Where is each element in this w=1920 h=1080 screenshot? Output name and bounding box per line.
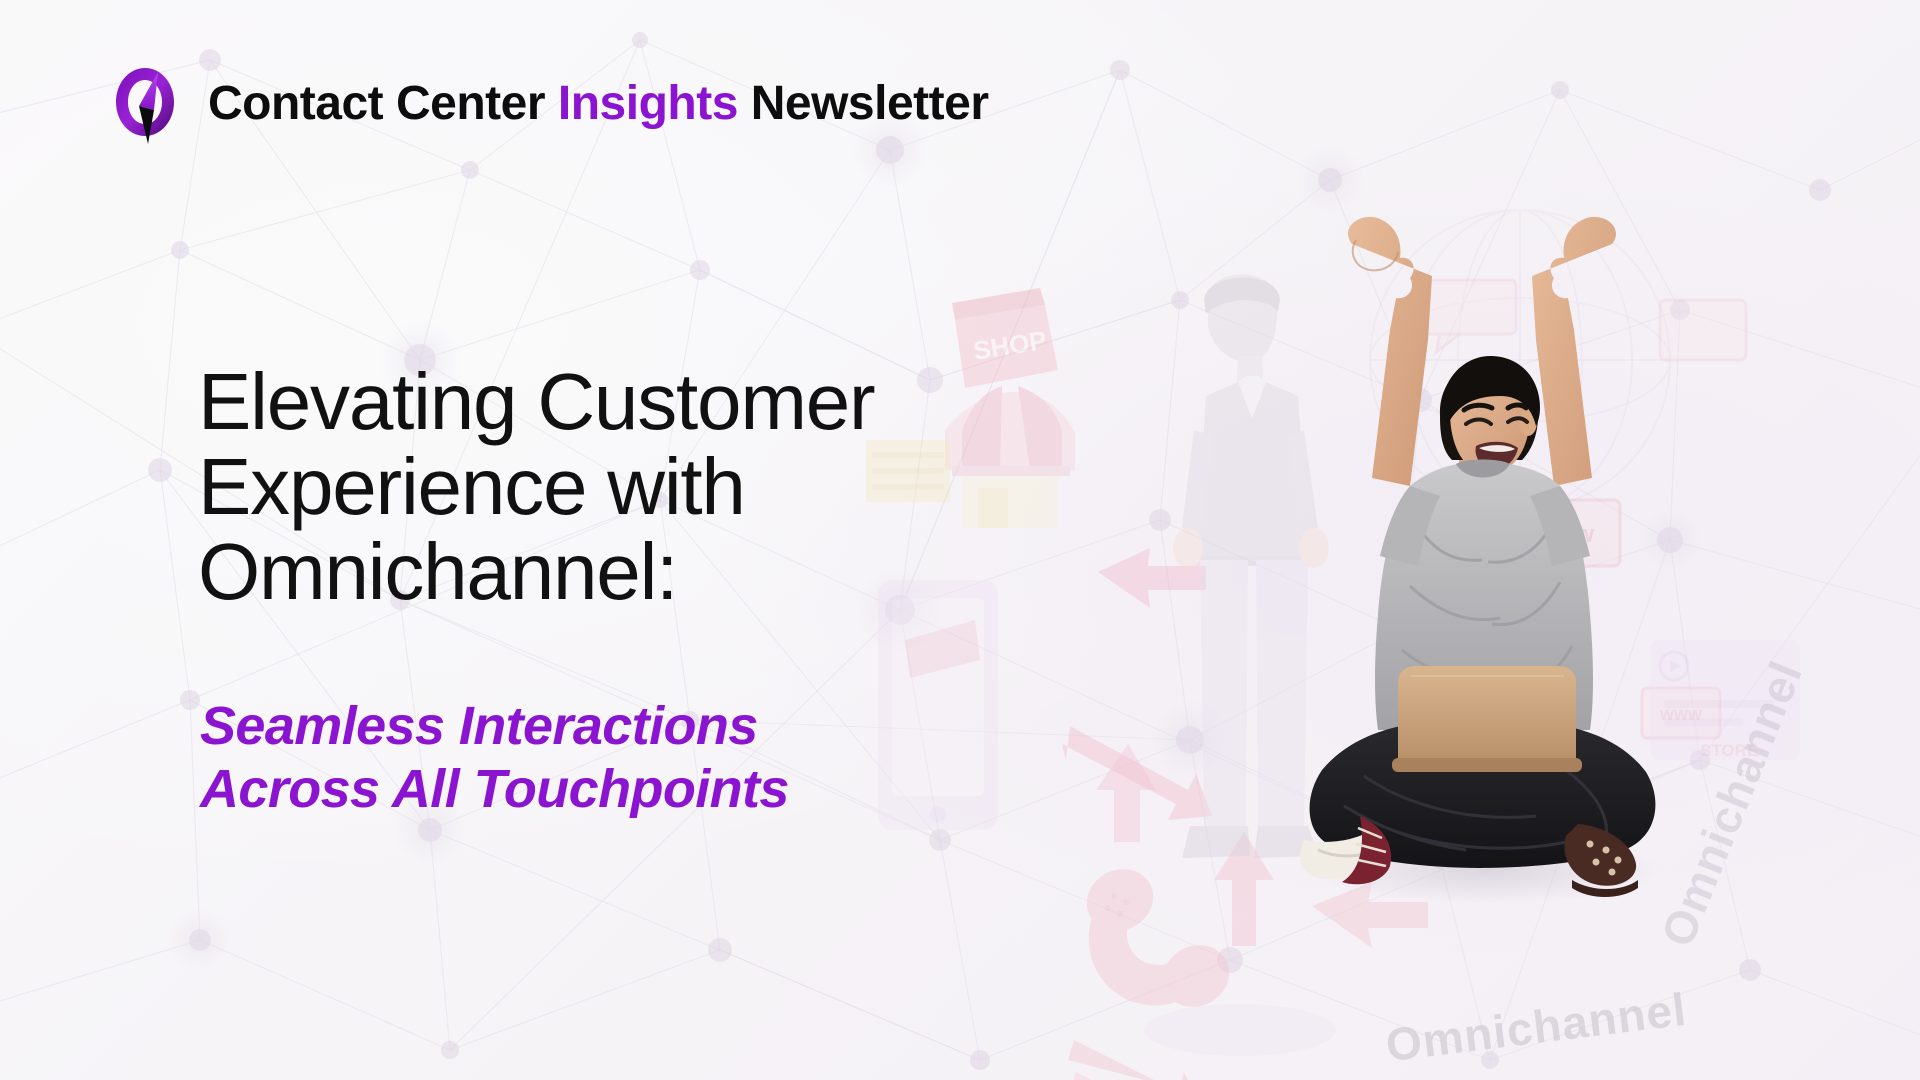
headline-line-1: Elevating Customer [198, 360, 1078, 445]
headline-line-2: Experience with [198, 445, 1078, 530]
headline-line-3: Omnichannel: [198, 530, 1078, 615]
svg-text:STORE: STORE [1700, 741, 1758, 760]
brand-text-accent: Insights [558, 77, 738, 130]
newsletter-banner: SHOP [0, 0, 1920, 1080]
rocket-circle-logo-icon [108, 62, 182, 146]
subhead-line-2: Across All Touchpoints [200, 758, 1100, 821]
newsletter-title: Contact Center Insights Newsletter [208, 80, 989, 128]
subhead-line-1: Seamless Interactions [200, 695, 1100, 758]
page-subtitle: Seamless Interactions Across All Touchpo… [200, 695, 1100, 821]
brand-text-secondary: Newsletter [738, 77, 989, 130]
page-title: Elevating Customer Experience with Omnic… [198, 360, 1078, 614]
hero-celebrating-man-with-laptop [1260, 210, 1700, 910]
telephone-handset-icon [1076, 858, 1240, 1019]
brand-text-primary: Contact Center [208, 77, 558, 130]
newsletter-header: Contact Center Insights Newsletter [108, 62, 989, 146]
